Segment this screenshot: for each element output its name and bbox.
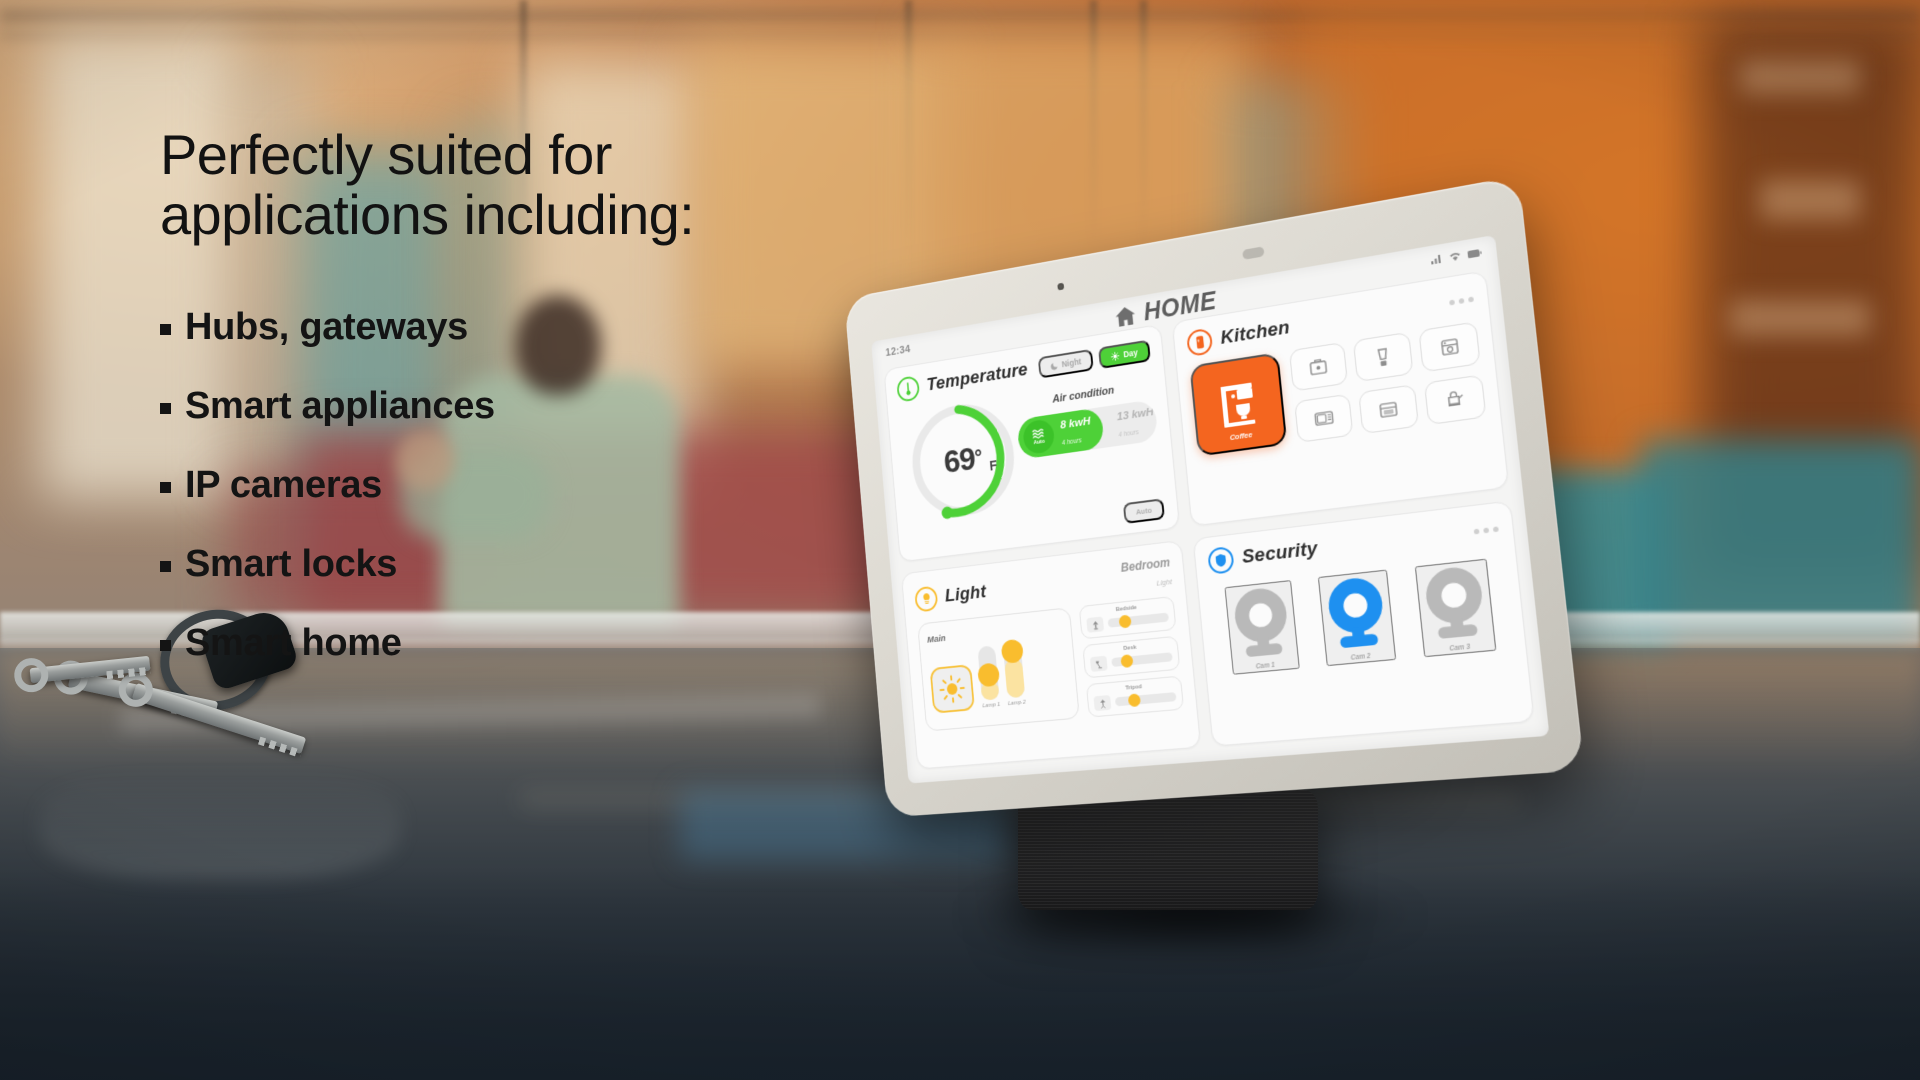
light-zone: Bedroom Light [1120,553,1172,593]
list-item: Smart locks [160,543,880,586]
card-security[interactable]: Security Cam 1 [1193,500,1535,746]
usage-inactive-sub: 4 hours [1118,429,1139,439]
desk-slider[interactable] [1111,652,1173,667]
coffee-machine-tile[interactable]: Coffee [1189,352,1287,456]
kettle-icon [1444,390,1466,409]
main-light-label: Main [927,633,946,645]
camera-icon [1226,582,1296,661]
bullet-square-icon [160,403,171,414]
main-light-row: Lamp 1 Lamp 2 [928,638,1069,713]
battery-icon [1467,249,1482,259]
usage-inactive: 13 kwH 4 hours [1116,403,1156,441]
chip-day[interactable]: Day [1098,340,1150,369]
dishwasher-icon [1439,337,1460,357]
light-body: Main [917,596,1184,732]
usage-inactive-value: 13 kwH [1116,406,1154,423]
shelf-object [1730,300,1870,336]
air-condition-bar[interactable]: Auto 8 kwH 4 hours 13 kwH 4 hours [1016,399,1158,460]
coffee-tile-label: Coffee [1229,430,1252,442]
row-tripod[interactable]: Tripod [1086,676,1184,718]
moon-icon [1050,361,1059,371]
more-dots-icon[interactable] [1474,526,1499,534]
sun-toggle-button[interactable] [930,664,975,714]
blender-icon [1374,347,1391,368]
card-light[interactable]: Light Bedroom Light Main [901,540,1201,770]
bullet-square-icon [160,561,171,572]
air-condition-fill: Auto 8 kwH 4 hours [1016,407,1104,460]
shield-icon [1207,546,1235,575]
camera-1-label: Cam 1 [1255,662,1275,671]
card-title: Security [1241,538,1319,569]
camera-2-label: Cam 2 [1350,653,1371,662]
toaster-icon [1308,357,1329,377]
kitchen-tiles [1289,321,1486,443]
light-rows: Bedside Desk [1079,596,1184,718]
list-item-label: Smart home [185,622,402,665]
list-item: Hubs, gateways [160,306,880,349]
tile-toaster[interactable] [1289,342,1348,392]
application-list: Hubs, gateways Smart appliances IP camer… [160,306,880,665]
list-item: Smart appliances [160,385,880,428]
camera-1[interactable]: Cam 1 [1224,580,1299,675]
keys-reflection [40,770,400,880]
airflow-knob-label: Auto [1033,439,1045,446]
bedside-lamp-icon [1086,617,1104,633]
card-temperature[interactable]: Temperature Night Day [884,324,1181,563]
speaker-mesh [1018,790,1318,910]
teal-furniture [1640,440,1920,640]
list-item-label: IP cameras [185,464,382,507]
list-item-label: Smart locks [185,543,397,586]
usage-active: 8 kwH 4 hours [1060,413,1093,450]
camera-2[interactable]: Cam 2 [1318,570,1396,667]
main-light-group: Main [917,607,1080,731]
bullet-square-icon [160,482,171,493]
security-cameras: Cam 1 Cam 2 [1211,557,1511,676]
camera-icon [1417,561,1493,643]
page-title: Perfectly suited for applications includ… [160,125,880,246]
clock: 12:34 [885,343,911,358]
air-condition-block: Air condition Auto 8 kwH 4 hours [1014,369,1159,460]
lamp-1-slider[interactable] [977,645,999,700]
tripod-slider[interactable] [1115,692,1177,706]
lamp-icon [914,585,938,612]
airflow-icon[interactable]: Auto [1022,418,1055,455]
tile-microwave[interactable] [1294,393,1353,442]
tile-kettle[interactable] [1424,374,1487,425]
signal-icon [1431,254,1443,265]
more-dots-icon[interactable] [1449,296,1474,305]
temperature-number: 69 [942,440,976,481]
headline-line-2: applications including: [160,185,880,245]
row-bedside[interactable]: Bedside [1079,596,1177,639]
camera-3-label: Cam 3 [1449,643,1470,652]
list-item: Smart home [160,622,880,665]
headline-line-1: Perfectly suited for [160,125,880,185]
sun-icon [938,674,966,705]
list-item: IP cameras [160,464,880,507]
bullet-square-icon [160,324,171,335]
temperature-value: 69° [902,390,1025,528]
list-item-label: Hubs, gateways [185,306,468,349]
auto-pill-button[interactable]: Auto [1123,498,1165,524]
chip-night-label: Night [1061,356,1081,369]
card-kitchen[interactable]: Kitchen Coffee [1172,270,1510,526]
light-zone-name: Bedroom [1120,555,1170,574]
tripod-lamp-icon [1094,695,1112,711]
desk-lamp-icon [1090,656,1108,672]
lamp-2-slider[interactable] [1003,643,1026,699]
slide-text-block: Perfectly suited for applications includ… [160,125,880,701]
temperature-gauge[interactable]: 69° F [902,390,1025,528]
oven-icon [1378,399,1399,419]
microwave-icon [1313,409,1335,427]
bullet-square-icon [160,640,171,651]
camera-3[interactable]: Cam 3 [1415,559,1497,658]
lamp-1-label: Lamp 1 [982,702,1000,709]
coffee-machine-icon [1214,379,1261,431]
speaker-base [1018,790,1318,910]
tile-dishwasher[interactable] [1418,321,1480,372]
system-icons [1431,248,1482,266]
chip-day-label: Day [1123,347,1138,359]
card-title: Kitchen [1220,317,1291,350]
shelf-object [1740,60,1860,94]
usage-active-value: 8 kwH [1060,416,1091,432]
sun-icon [1111,351,1120,361]
shelf-object [1760,180,1860,220]
camera-icon [1320,572,1393,653]
degree-symbol: ° [974,445,983,471]
usage-active-sub: 4 hours [1062,437,1082,447]
list-item-label: Smart appliances [185,385,495,428]
fridge-icon [1186,328,1213,358]
light-zone-sub: Light [1156,577,1172,588]
card-title: Light [944,581,987,607]
lamp-2-label: Lamp 2 [1008,700,1026,707]
tile-blender[interactable] [1353,332,1414,382]
temperature-unit: F [989,457,998,473]
wifi-icon [1448,251,1462,262]
tile-oven[interactable] [1358,384,1419,434]
row-desk[interactable]: Desk [1082,636,1180,679]
chip-night[interactable]: Night [1038,349,1095,379]
bedside-slider[interactable] [1108,613,1169,628]
thermometer-icon [896,375,920,403]
